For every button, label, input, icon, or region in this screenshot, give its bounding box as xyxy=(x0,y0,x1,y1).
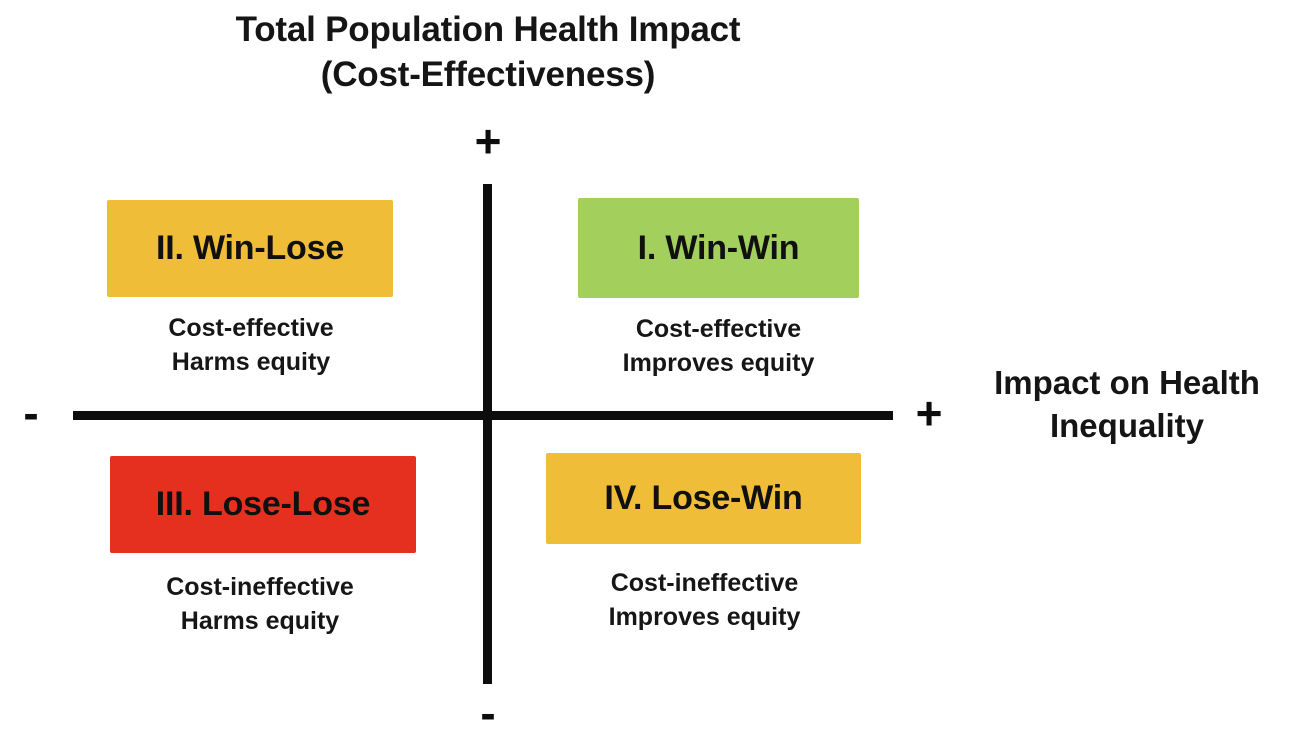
quadrant-4-desc-line-2: Improves equity xyxy=(548,600,861,634)
quadrant-3-box: III. Lose-Lose xyxy=(110,456,416,553)
quadrant-1-desc-line-1: Cost-effective xyxy=(636,315,801,343)
quadrant-2-desc-line-1: Cost-effective xyxy=(168,314,333,342)
x-axis-label-line-2: Inequality xyxy=(952,405,1302,448)
y-axis-line xyxy=(483,184,492,684)
quadrant-4-lose-win: IV. Lose-Win Cost-ineffective Improves e… xyxy=(546,453,861,634)
quadrant-1-win-win: I. Win-Win Cost-effective Improves equit… xyxy=(578,198,859,380)
quadrant-3-description: Cost-ineffective Harms equity xyxy=(104,570,416,638)
page-title-line-1: Total Population Health Impact xyxy=(236,10,741,49)
quadrant-3-lose-lose: III. Lose-Lose Cost-ineffective Harms eq… xyxy=(110,456,416,638)
quadrant-4-description: Cost-ineffective Improves equity xyxy=(548,566,861,634)
quadrant-2-box: II. Win-Lose xyxy=(107,200,393,297)
quadrant-4-desc-line-1: Cost-ineffective xyxy=(611,569,799,597)
x-axis-label-line-1: Impact on Health xyxy=(994,364,1260,401)
x-axis-negative-sign: - xyxy=(2,390,60,436)
quadrant-4-box: IV. Lose-Win xyxy=(546,453,861,544)
y-axis-positive-sign: + xyxy=(459,118,517,164)
quadrant-2-label: II. Win-Lose xyxy=(156,229,344,268)
quadrant-2-win-lose: II. Win-Lose Cost-effective Harms equity xyxy=(107,200,393,379)
quadrant-diagram-canvas: Total Population Health Impact (Cost-Eff… xyxy=(0,0,1309,738)
page-title: Total Population Health Impact (Cost-Eff… xyxy=(118,8,858,98)
quadrant-1-description: Cost-effective Improves equity xyxy=(578,312,859,380)
quadrant-1-box: I. Win-Win xyxy=(578,198,859,298)
quadrant-2-description: Cost-effective Harms equity xyxy=(109,311,393,379)
quadrant-3-label: III. Lose-Lose xyxy=(156,485,370,524)
quadrant-1-desc-line-2: Improves equity xyxy=(578,346,859,380)
page-title-line-2: (Cost-Effectiveness) xyxy=(118,53,858,98)
y-axis-negative-sign: - xyxy=(459,690,517,736)
quadrant-2-desc-line-2: Harms equity xyxy=(109,345,393,379)
quadrant-4-label: IV. Lose-Win xyxy=(604,479,802,518)
quadrant-3-desc-line-2: Harms equity xyxy=(104,604,416,638)
x-axis-line xyxy=(73,411,893,420)
x-axis-positive-sign: + xyxy=(900,390,958,436)
x-axis-label: Impact on Health Inequality xyxy=(952,362,1302,448)
quadrant-1-label: I. Win-Win xyxy=(638,229,800,268)
quadrant-3-desc-line-1: Cost-ineffective xyxy=(166,573,354,601)
